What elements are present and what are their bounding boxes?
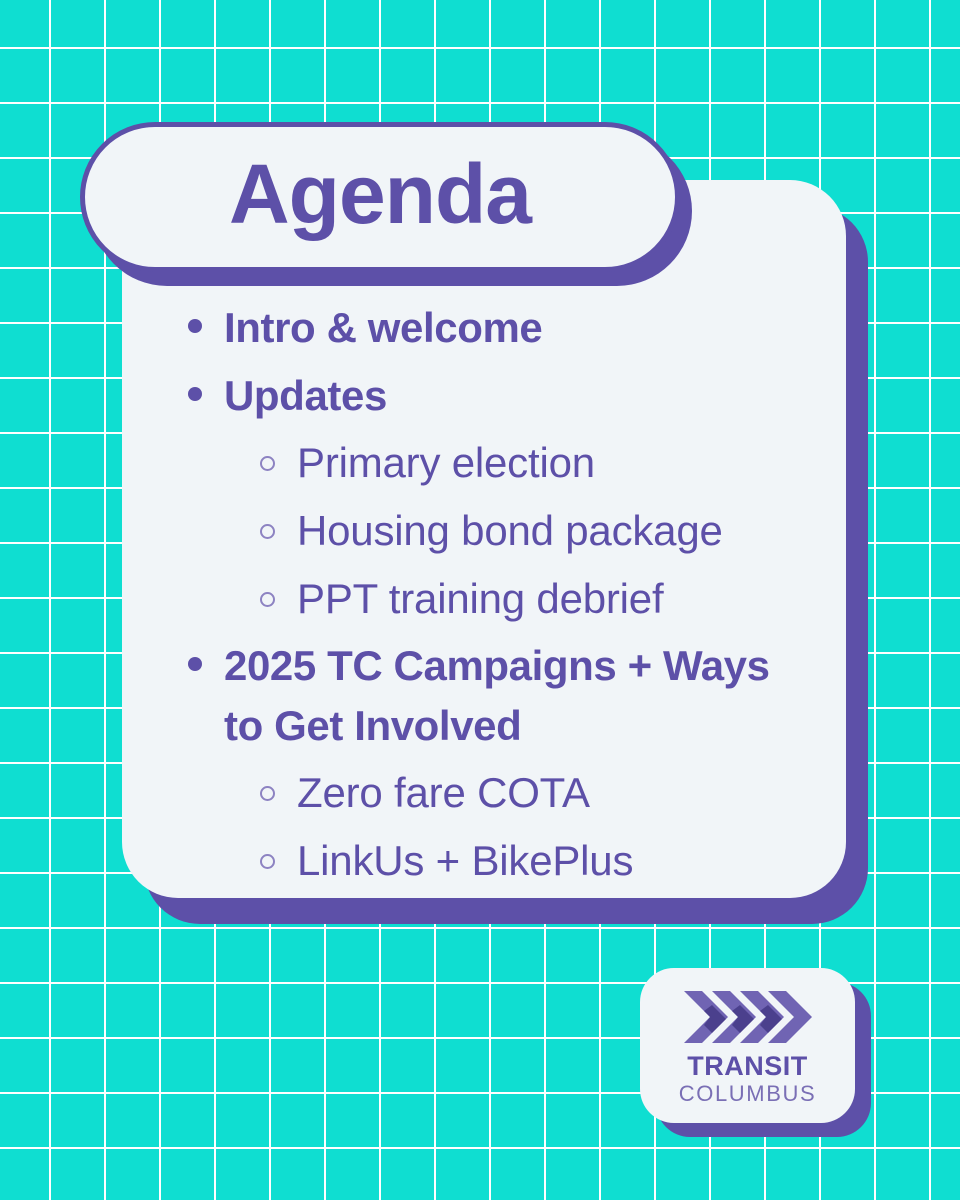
agenda-item: PPT training debrief	[188, 569, 816, 629]
agenda-item-label: Zero fare COTA	[297, 763, 590, 823]
agenda-item: Intro & welcome	[188, 298, 816, 358]
logo-text-columbus: COLUMBUS	[679, 1082, 817, 1106]
bullet-circle-icon	[260, 456, 275, 471]
agenda-card-body: Intro & welcomeUpdatesPrimary electionHo…	[122, 180, 846, 898]
bullet-dot-icon	[188, 387, 202, 401]
agenda-item: Housing bond package	[188, 501, 816, 561]
logo-text-transit: TRANSIT	[687, 1052, 808, 1080]
agenda-item-label: Housing bond package	[297, 501, 723, 561]
agenda-item: LinkUs + BikePlus	[188, 831, 816, 891]
agenda-item-label: Updates	[224, 366, 387, 426]
agenda-item: 2025 TC Campaigns + Ways to Get Involved	[188, 636, 816, 755]
agenda-item: Primary election	[188, 433, 816, 493]
bullet-dot-icon	[188, 319, 202, 333]
agenda-item-label: 2025 TC Campaigns + Ways to Get Involved	[224, 636, 816, 755]
chevrons-right-icon	[682, 989, 814, 1045]
agenda-item: Zero fare COTA	[188, 763, 816, 823]
page-title: Agenda	[229, 152, 531, 242]
title-pill: Agenda	[80, 122, 680, 272]
logo-badge-body: TRANSIT COLUMBUS	[640, 968, 855, 1123]
logo-badge: TRANSIT COLUMBUS	[640, 968, 855, 1123]
bullet-circle-icon	[260, 854, 275, 869]
bullet-circle-icon	[260, 592, 275, 607]
agenda-item-label: PPT training debrief	[297, 569, 663, 629]
bullet-circle-icon	[260, 786, 275, 801]
bullet-dot-icon	[188, 657, 202, 671]
agenda-item-label: LinkUs + BikePlus	[297, 831, 633, 891]
agenda-item-label: Primary election	[297, 433, 595, 493]
agenda-item-label: Intro & welcome	[224, 298, 542, 358]
bullet-circle-icon	[260, 524, 275, 539]
title-pill-body: Agenda	[80, 122, 680, 272]
agenda-card: Intro & welcomeUpdatesPrimary electionHo…	[122, 180, 846, 898]
agenda-item: Updates	[188, 366, 816, 426]
agenda-list: Intro & welcomeUpdatesPrimary electionHo…	[122, 298, 846, 899]
slide-canvas: Agenda Intro & welcomeUpdatesPrimary ele…	[0, 0, 960, 1200]
